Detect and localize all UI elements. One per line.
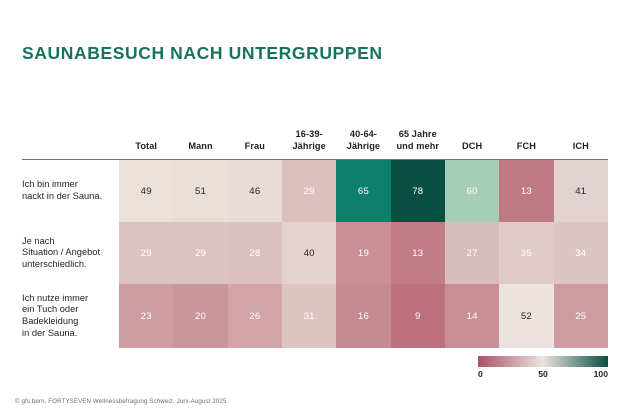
column-header-total: Total	[119, 118, 173, 160]
heatmap-table-container: Total Mann Frau 16-39- Jährige 40-64-	[22, 118, 608, 348]
row-label-jenach-line1: Je nach	[22, 236, 109, 248]
table-body: Ich bin immer nackt in der Sauna. 49 51 …	[22, 160, 608, 349]
column-header-age-65plus-line2: und mehr	[393, 141, 443, 153]
color-scale-legend: 0 50 100	[478, 356, 608, 383]
heatmap-cell-jenach-age-40-64: 19	[336, 222, 390, 284]
heatmap-cell-jenach-mann: 29	[173, 222, 227, 284]
heatmap-cell-tuch-frau: 26	[228, 284, 282, 348]
legend-tick-100: 100	[594, 369, 608, 379]
column-header-rowlabels	[22, 118, 119, 160]
heatmap-table: Total Mann Frau 16-39- Jährige 40-64-	[22, 118, 608, 348]
column-header-age-65plus-line1: 65 Jahre	[393, 129, 443, 141]
heatmap-cell-nackt-ich: 41	[554, 160, 608, 223]
heatmap-cell-nackt-frau: 46	[228, 160, 282, 223]
column-header-mann-line1: Mann	[175, 141, 225, 153]
heatmap-cell-nackt-age-65plus: 78	[391, 160, 445, 223]
table-row: Ich nutze immer ein Tuch oder Badekleidu…	[22, 284, 608, 348]
heatmap-cell-tuch-age-40-64: 16	[336, 284, 390, 348]
page-title: SAUNABESUCH NACH UNTERGRUPPEN	[22, 43, 383, 64]
table-row: Ich bin immer nackt in der Sauna. 49 51 …	[22, 160, 608, 223]
row-label-tuch-line3: Badekleidung	[22, 316, 109, 328]
heatmap-cell-tuch-fch: 52	[499, 284, 553, 348]
heatmap-cell-nackt-dch: 60	[445, 160, 499, 223]
column-header-fch-line1: FCH	[501, 141, 551, 153]
table-header: Total Mann Frau 16-39- Jährige 40-64-	[22, 118, 608, 160]
column-header-ich-line1: ICH	[556, 141, 606, 153]
heatmap-cell-jenach-dch: 27	[445, 222, 499, 284]
color-scale-gradient-bar	[478, 356, 608, 367]
heatmap-cell-jenach-age-16-39: 40	[282, 222, 336, 284]
column-header-age-40-64-line1: 40-64-	[338, 129, 388, 141]
row-label-jenach-line2: Situation / Angebot	[22, 247, 109, 259]
row-label-jenach: Je nach Situation / Angebot unterschiedl…	[22, 222, 119, 284]
heatmap-cell-jenach-ich: 34	[554, 222, 608, 284]
row-label-tuch-line4: in der Sauna.	[22, 328, 109, 340]
row-label-jenach-line3: unterschiedlich.	[22, 259, 109, 271]
row-label-nackt-line1: Ich bin immer	[22, 179, 109, 191]
heatmap-cell-nackt-total: 49	[119, 160, 173, 223]
row-label-tuch-line2: ein Tuch oder	[22, 304, 109, 316]
column-header-age-65plus: 65 Jahre und mehr	[391, 118, 445, 160]
table-row: Je nach Situation / Angebot unterschiedl…	[22, 222, 608, 284]
heatmap-cell-nackt-age-40-64: 65	[336, 160, 390, 223]
row-label-nackt: Ich bin immer nackt in der Sauna.	[22, 160, 119, 223]
column-header-age-16-39-line1: 16-39-	[284, 129, 334, 141]
heatmap-cell-tuch-total: 23	[119, 284, 173, 348]
heatmap-cell-nackt-fch: 13	[499, 160, 553, 223]
legend-tick-0: 0	[478, 369, 483, 379]
source-footnote: © gfs.bern, FORTYSEVEN Wellnessbefragung…	[15, 398, 226, 405]
heatmap-cell-jenach-frau: 28	[228, 222, 282, 284]
color-scale-tick-labels: 0 50 100	[478, 369, 608, 383]
heatmap-cell-tuch-age-16-39: 31	[282, 284, 336, 348]
column-header-fch: FCH	[499, 118, 553, 160]
column-header-mann: Mann	[173, 118, 227, 160]
heatmap-cell-tuch-age-65plus: 9	[391, 284, 445, 348]
heatmap-cell-tuch-ich: 25	[554, 284, 608, 348]
row-label-tuch-line1: Ich nutze immer	[22, 293, 109, 305]
column-header-dch-line1: DCH	[447, 141, 497, 153]
heatmap-cell-jenach-fch: 35	[499, 222, 553, 284]
column-header-frau-line1: Frau	[230, 141, 280, 153]
column-header-age-16-39-line2: Jährige	[284, 141, 334, 153]
heatmap-cell-tuch-mann: 20	[173, 284, 227, 348]
table-header-row: Total Mann Frau 16-39- Jährige 40-64-	[22, 118, 608, 160]
heatmap-cell-jenach-age-65plus: 13	[391, 222, 445, 284]
column-header-age-40-64-line2: Jährige	[338, 141, 388, 153]
column-header-dch: DCH	[445, 118, 499, 160]
heatmap-cell-jenach-total: 29	[119, 222, 173, 284]
column-header-age-16-39: 16-39- Jährige	[282, 118, 336, 160]
row-label-nackt-line2: nackt in der Sauna.	[22, 191, 109, 203]
heatmap-cell-nackt-mann: 51	[173, 160, 227, 223]
column-header-frau: Frau	[228, 118, 282, 160]
column-header-ich: ICH	[554, 118, 608, 160]
heatmap-cell-nackt-age-16-39: 29	[282, 160, 336, 223]
heatmap-cell-tuch-dch: 14	[445, 284, 499, 348]
legend-tick-50: 50	[538, 369, 548, 379]
column-header-age-40-64: 40-64- Jährige	[336, 118, 390, 160]
column-header-total-line1: Total	[121, 141, 171, 153]
row-label-tuch: Ich nutze immer ein Tuch oder Badekleidu…	[22, 284, 119, 348]
